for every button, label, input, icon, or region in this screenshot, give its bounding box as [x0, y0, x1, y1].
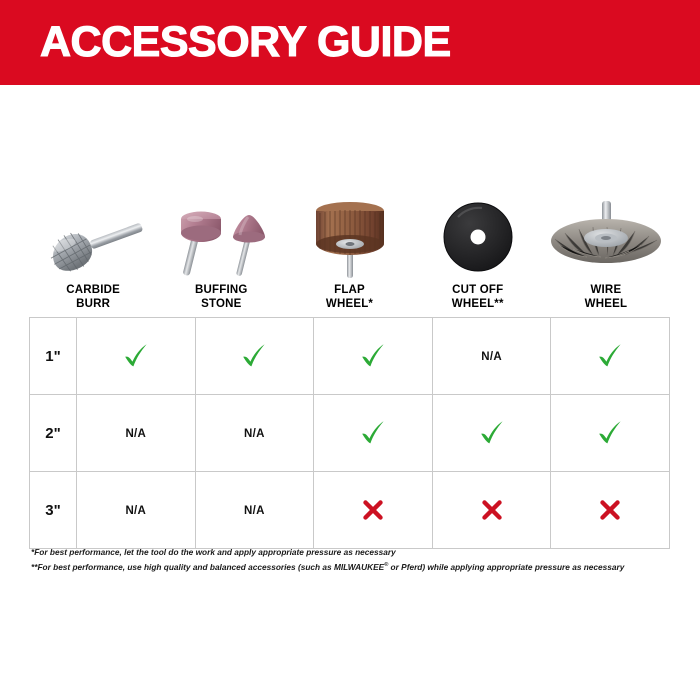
product-label-carbide-burr: CARBIDE BURR [66, 284, 120, 311]
cell-1in-wire-wheel [551, 318, 670, 395]
check-mark-icon [122, 342, 150, 370]
table-body: 1" N/A 2" N/A N/A 3" N/A N/A [30, 318, 670, 549]
product-label-wire-wheel: WIRE WHEEL [585, 284, 628, 311]
product-buffing-stone: BUFFING STONE [157, 186, 285, 311]
cell-1in-cut-off-wheel: N/A [432, 318, 551, 395]
check-mark-icon [596, 342, 624, 370]
check-mark-icon [240, 342, 268, 370]
compatibility-table: 1" N/A 2" N/A N/A 3" N/A N/A [29, 317, 670, 549]
footnote-single-asterisk: *For best performance, let the tool do t… [31, 546, 671, 559]
cross-mark-icon [598, 498, 622, 522]
product-image-row: CARBIDE BURR [29, 186, 670, 311]
cell-1in-carbide-burr [77, 318, 196, 395]
cell-2in-cut-off-wheel [432, 395, 551, 472]
table-row: 1" N/A [30, 318, 670, 395]
product-label-line2: STONE [195, 298, 248, 312]
footnote-double-asterisk: **For best performance, use high quality… [31, 559, 671, 574]
cell-2in-wire-wheel [551, 395, 670, 472]
product-flap-wheel: FLAP WHEEL* [285, 186, 413, 311]
not-available-label: N/A [125, 428, 146, 440]
cell-1in-buffing-stone [195, 318, 314, 395]
cross-mark-icon [480, 498, 504, 522]
not-available-label: N/A [244, 505, 265, 517]
table-row: 3" N/A N/A [30, 472, 670, 549]
product-label-line1: CUT OFF [452, 284, 504, 298]
product-label-line1: FLAP [326, 284, 373, 298]
cell-3in-cut-off-wheel [432, 472, 551, 549]
product-carbide-burr: CARBIDE BURR [29, 186, 157, 311]
product-label-line2: WHEEL [585, 298, 628, 312]
row-header-size: 2" [30, 395, 77, 472]
buffing-stone-icon [159, 193, 284, 281]
product-label-line2: WHEEL** [452, 298, 504, 312]
wire-wheel-icon [543, 193, 668, 281]
table-row: 2" N/A N/A [30, 395, 670, 472]
cut-off-wheel-icon [415, 193, 540, 281]
footnote-text-post: or Pferd) while applying appropriate pre… [388, 562, 624, 572]
check-mark-icon [596, 419, 624, 447]
product-label-flap-wheel: FLAP WHEEL* [326, 284, 373, 311]
cell-2in-flap-wheel [314, 395, 433, 472]
cell-1in-flap-wheel [314, 318, 433, 395]
footnote-text-pre: **For best performance, use high quality… [31, 562, 384, 572]
not-available-label: N/A [481, 351, 502, 363]
product-wire-wheel: WIRE WHEEL [542, 186, 670, 311]
page-title: ACCESSORY GUIDE [40, 21, 451, 64]
flap-wheel-icon [287, 193, 412, 281]
product-cut-off-wheel: CUT OFF WHEEL** [414, 186, 542, 311]
product-label-cut-off-wheel: CUT OFF WHEEL** [452, 284, 504, 311]
footnotes: *For best performance, let the tool do t… [31, 546, 671, 574]
check-mark-icon [359, 342, 387, 370]
cell-3in-buffing-stone: N/A [195, 472, 314, 549]
product-label-line1: BUFFING [195, 284, 248, 298]
row-header-size: 3" [30, 472, 77, 549]
not-available-label: N/A [244, 428, 265, 440]
not-available-label: N/A [125, 505, 146, 517]
cell-3in-flap-wheel [314, 472, 433, 549]
cell-2in-carbide-burr: N/A [77, 395, 196, 472]
product-label-line2: WHEEL* [326, 298, 373, 312]
check-mark-icon [359, 419, 387, 447]
cross-mark-icon [361, 498, 385, 522]
cell-3in-carbide-burr: N/A [77, 472, 196, 549]
cell-2in-buffing-stone: N/A [195, 395, 314, 472]
check-mark-icon [478, 419, 506, 447]
row-header-size: 1" [30, 318, 77, 395]
product-label-line1: CARBIDE [66, 284, 120, 298]
product-label-buffing-stone: BUFFING STONE [195, 284, 248, 311]
product-label-line1: WIRE [585, 284, 628, 298]
carbide-burr-icon [31, 193, 156, 281]
product-label-line2: BURR [66, 298, 120, 312]
cell-3in-wire-wheel [551, 472, 670, 549]
